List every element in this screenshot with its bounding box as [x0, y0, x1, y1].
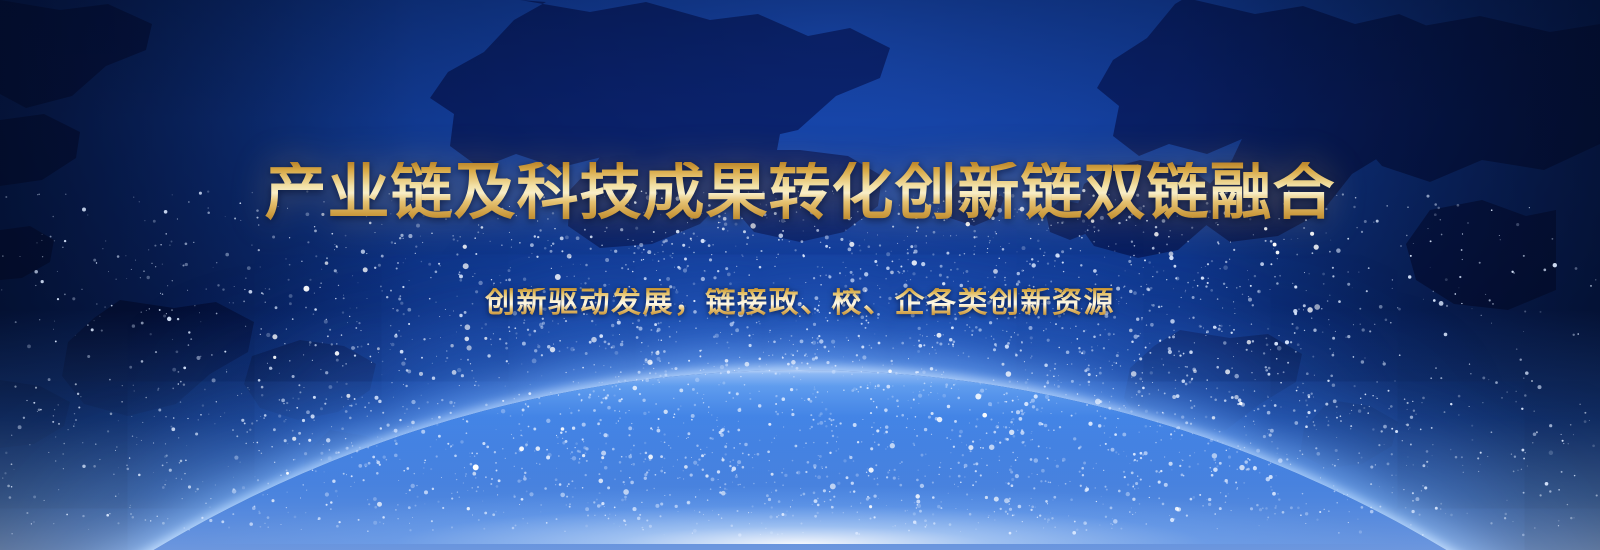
hero-banner: 产业链及科技成果转化创新链双链融合 创新驱动发展，链接政、校、企各类创新资源	[0, 0, 1600, 550]
